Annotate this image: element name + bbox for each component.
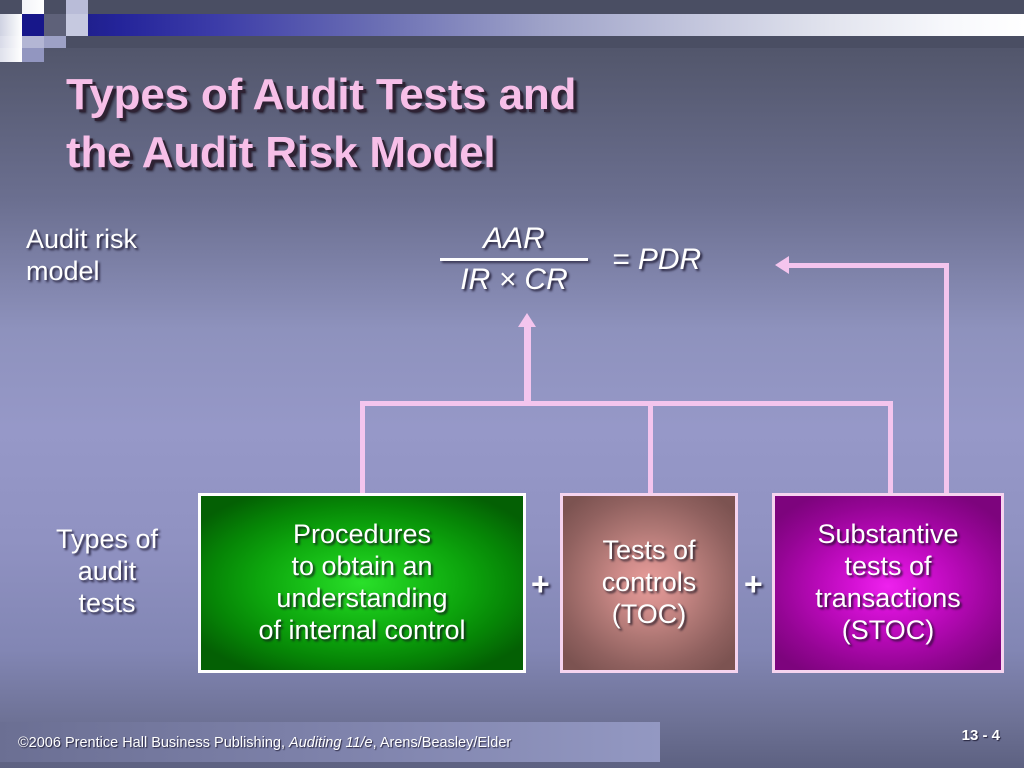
deco-square-8: [66, 14, 88, 36]
types-of-audit-tests-label: Types of audit tests: [14, 524, 200, 620]
connector-drop-to-toc: [648, 401, 653, 495]
deco-square-13: [0, 48, 22, 62]
page-title: Types of Audit Tests and the Audit Risk …: [66, 66, 786, 181]
formula-denominator: IR × CR: [452, 264, 576, 296]
footer-copyright-suffix: , Arens/Beasley/Elder: [373, 735, 512, 751]
connector-drop-to-stoc: [888, 401, 893, 495]
connector-formula-stem: [524, 326, 531, 404]
box-procedures-internal-control[interactable]: Procedures to obtain an understanding of…: [198, 493, 526, 673]
deco-square-12: [22, 48, 44, 62]
header-gradient-bar: [62, 14, 1024, 36]
deco-square-2: [22, 0, 44, 14]
audit-risk-model-formula: AAR IR × CR = PDR: [440, 224, 701, 295]
page-number: 13 - 4: [962, 727, 1000, 744]
page-title-line-2: the Audit Risk Model: [66, 124, 786, 182]
deco-square-5: [0, 14, 22, 36]
box-tests-of-controls[interactable]: Tests of controls (TOC): [560, 493, 738, 673]
footer-copyright-prefix: ©2006 Prentice Hall Business Publishing,: [18, 735, 289, 751]
header-band: [0, 0, 1024, 48]
arrowhead-to-formula: [518, 313, 536, 327]
deco-square-11: [44, 36, 66, 48]
formula-result: = PDR: [612, 243, 701, 277]
connector-stoc-feedback-vertical: [944, 263, 949, 495]
connector-stoc-feedback-horizontal: [788, 263, 949, 268]
plus-operator-1: +: [531, 566, 550, 603]
page-title-line-1: Types of Audit Tests and: [66, 66, 786, 124]
formula-fraction-bar: [440, 258, 588, 261]
arrowhead-to-pdr: [775, 256, 789, 274]
deco-square-6: [22, 14, 44, 36]
connector-bracket-horizontal: [360, 401, 893, 406]
audit-risk-model-label: Audit risk model: [26, 224, 226, 288]
plus-operator-2: +: [744, 566, 763, 603]
formula-fraction: AAR IR × CR: [440, 224, 588, 295]
formula-numerator: AAR: [475, 224, 553, 256]
box-substantive-tests-of-transactions[interactable]: Substantive tests of transactions (STOC): [772, 493, 1004, 673]
deco-square-3: [44, 0, 66, 14]
slide-canvas: Types of Audit Tests and the Audit Risk …: [0, 0, 1024, 768]
footer-book-title: Auditing 11/e: [289, 735, 373, 751]
connector-drop-to-procedures: [360, 401, 365, 495]
deco-square-10: [22, 36, 44, 48]
deco-square-4: [66, 0, 88, 14]
footer-copyright: ©2006 Prentice Hall Business Publishing,…: [18, 735, 511, 751]
deco-square-7: [44, 14, 66, 36]
